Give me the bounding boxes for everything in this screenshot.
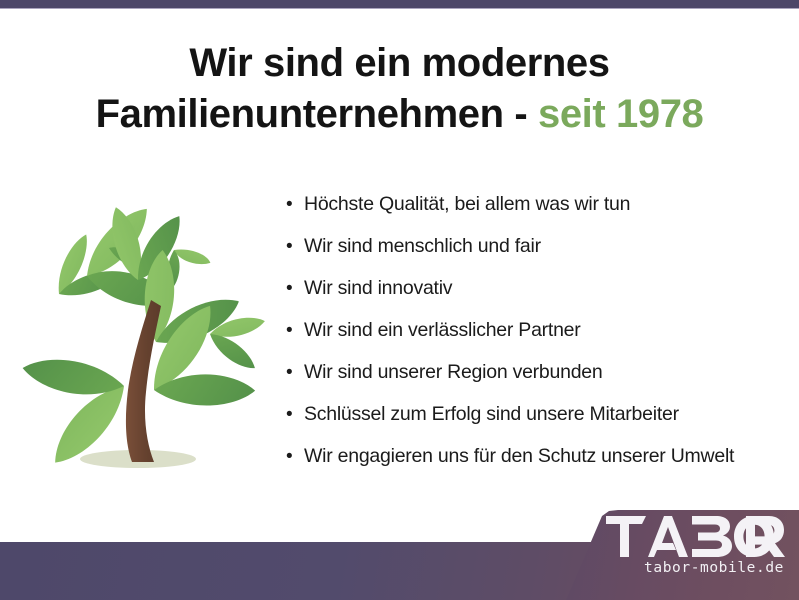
brand-logo: tabor-mobile.de [606, 516, 786, 586]
benefits-list: • Höchste Qualität, bei allem was wir tu… [286, 192, 791, 486]
list-item: • Wir sind unserer Region verbunden [286, 360, 791, 402]
top-accent-bar [0, 0, 799, 9]
headline-line-1: Wir sind ein modernes [0, 38, 799, 89]
list-item-label: Höchste Qualität, bei allem was wir tun [304, 192, 630, 216]
list-item-label: Wir engagieren uns für den Schutz unsere… [304, 444, 734, 468]
bullet-marker-icon: • [286, 235, 304, 259]
list-item: • Wir sind menschlich und fair [286, 234, 791, 276]
headline-accent: seit 1978 [538, 92, 703, 136]
bullet-marker-icon: • [286, 361, 304, 385]
tree-logo-illustration [14, 190, 266, 490]
bullet-marker-icon: • [286, 403, 304, 427]
brand-tagline: tabor-mobile.de [606, 559, 786, 577]
headline-line-2-plain: Familienunternehmen - [96, 92, 538, 136]
leaf-lower-left [22, 338, 140, 464]
page-title: Wir sind ein modernes Familienunternehme… [0, 38, 799, 140]
list-item-label: Schlüssel zum Erfolg sind unsere Mitarbe… [304, 402, 679, 426]
bullet-marker-icon: • [286, 319, 304, 343]
list-item-label: Wir sind innovativ [304, 276, 452, 300]
list-item: • Wir sind innovativ [286, 276, 791, 318]
list-item-label: Wir sind menschlich und fair [304, 234, 541, 258]
list-item: • Höchste Qualität, bei allem was wir tu… [286, 192, 791, 234]
bullet-marker-icon: • [286, 193, 304, 217]
headline-line-2: Familienunternehmen - seit 1978 [0, 89, 799, 140]
list-item-label: Wir sind unserer Region verbunden [304, 360, 603, 384]
tabor-wordmark-icon [606, 516, 786, 557]
bullet-marker-icon: • [286, 277, 304, 301]
list-item: • Wir sind ein verlässlicher Partner [286, 318, 791, 360]
list-item: • Schlüssel zum Erfolg sind unsere Mitar… [286, 402, 791, 444]
slide-canvas: Wir sind ein modernes Familienunternehme… [0, 0, 799, 600]
list-item: • Wir engagieren uns für den Schutz unse… [286, 444, 791, 486]
bullet-marker-icon: • [286, 445, 304, 469]
list-item-label: Wir sind ein verlässlicher Partner [304, 318, 581, 342]
tree-icon [14, 190, 266, 490]
